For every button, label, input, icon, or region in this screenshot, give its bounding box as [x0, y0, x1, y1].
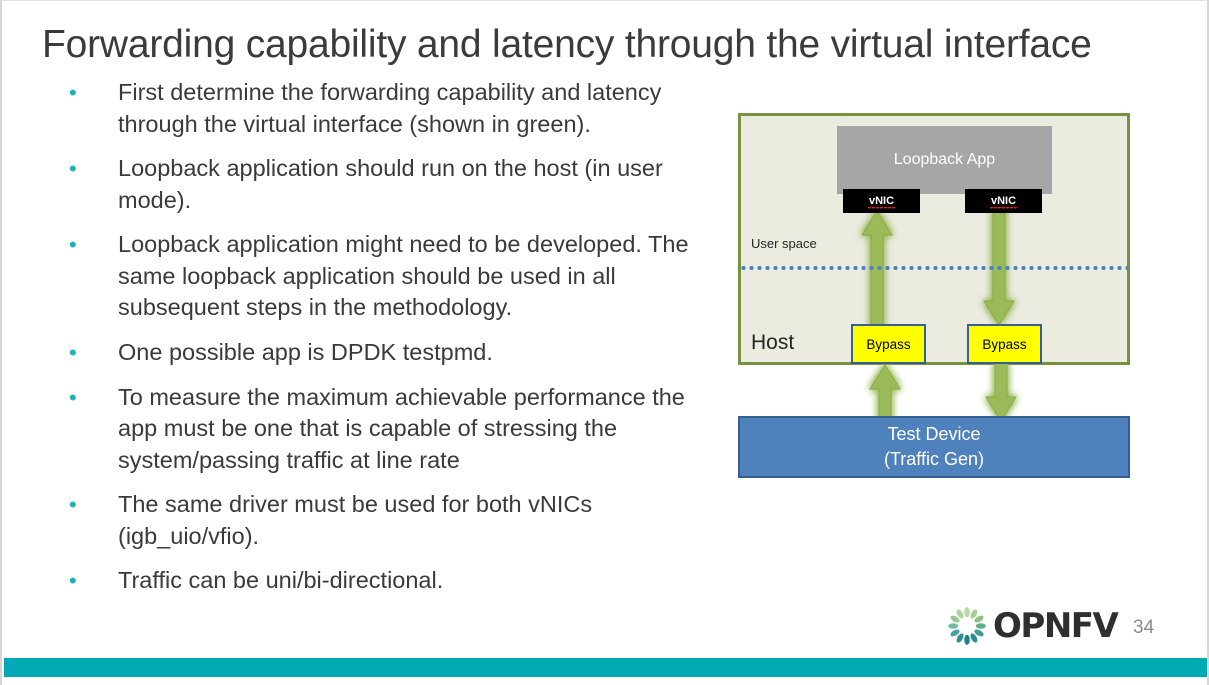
architecture-diagram: Loopback App vNIC vNIC User space Host B…: [738, 113, 1130, 478]
test-device-box: Test Device (Traffic Gen): [738, 416, 1130, 478]
page-number: 34: [1133, 617, 1154, 639]
footer-accent-bar: [4, 658, 1209, 677]
list-item: • First determine the forwarding capabil…: [64, 77, 724, 140]
user-space-label: User space: [751, 236, 817, 251]
bullet-dot-icon: •: [64, 565, 118, 597]
bullet-dot-icon: •: [64, 229, 118, 261]
opnfv-logo: OPNFV: [944, 605, 1117, 647]
vnic-right-label: vNIC: [991, 195, 1016, 207]
list-item: • Traffic can be uni/bi-directional.: [64, 565, 724, 597]
bullet-text: One possible app is DPDK testpmd.: [118, 337, 724, 369]
bullet-dot-icon: •: [64, 153, 118, 185]
opnfv-petal-logo-icon: [944, 605, 990, 647]
user-kernel-divider-line: [741, 266, 1127, 270]
bypass-left-box: Bypass: [851, 324, 926, 364]
bullet-list: • First determine the forwarding capabil…: [64, 77, 724, 610]
bullet-dot-icon: •: [64, 489, 118, 521]
bullet-text: Loopback application should run on the h…: [118, 153, 724, 216]
host-container-box: Loopback App vNIC vNIC User space Host B…: [738, 113, 1130, 365]
bullet-text: The same driver must be used for both vN…: [118, 489, 724, 552]
list-item: • Loopback application might need to be …: [64, 229, 724, 324]
vnic-left-box: vNIC: [843, 189, 920, 213]
vnic-right-box: vNIC: [965, 189, 1042, 213]
list-item: • The same driver must be used for both …: [64, 489, 724, 552]
vnic-left-label: vNIC: [869, 195, 894, 207]
list-item: • To measure the maximum achievable perf…: [64, 382, 724, 477]
list-item: • One possible app is DPDK testpmd.: [64, 337, 724, 369]
bypass-right-down-arrow-icon: [978, 363, 1024, 423]
bullet-dot-icon: •: [64, 382, 118, 414]
bullet-dot-icon: •: [64, 77, 118, 109]
loopback-app-box: Loopback App: [837, 126, 1052, 194]
host-label: Host: [751, 331, 794, 355]
page-title: Forwarding capability and latency throug…: [42, 21, 1162, 69]
test-device-line1: Test Device: [887, 422, 980, 447]
opnfv-wordmark: OPNFV: [993, 606, 1117, 646]
bullet-text: Loopback application might need to be de…: [118, 229, 724, 324]
bypass-left-up-arrow-icon: [862, 363, 908, 423]
test-device-line2: (Traffic Gen): [884, 447, 984, 472]
bullet-text: To measure the maximum achievable perfor…: [118, 382, 724, 477]
bullet-dot-icon: •: [64, 337, 118, 369]
bypass-right-box: Bypass: [967, 324, 1042, 364]
bullet-text: Traffic can be uni/bi-directional.: [118, 565, 724, 597]
slide-canvas: Forwarding capability and latency throug…: [0, 0, 1209, 685]
list-item: • Loopback application should run on the…: [64, 153, 724, 216]
bullet-text: First determine the forwarding capabilit…: [118, 77, 724, 140]
